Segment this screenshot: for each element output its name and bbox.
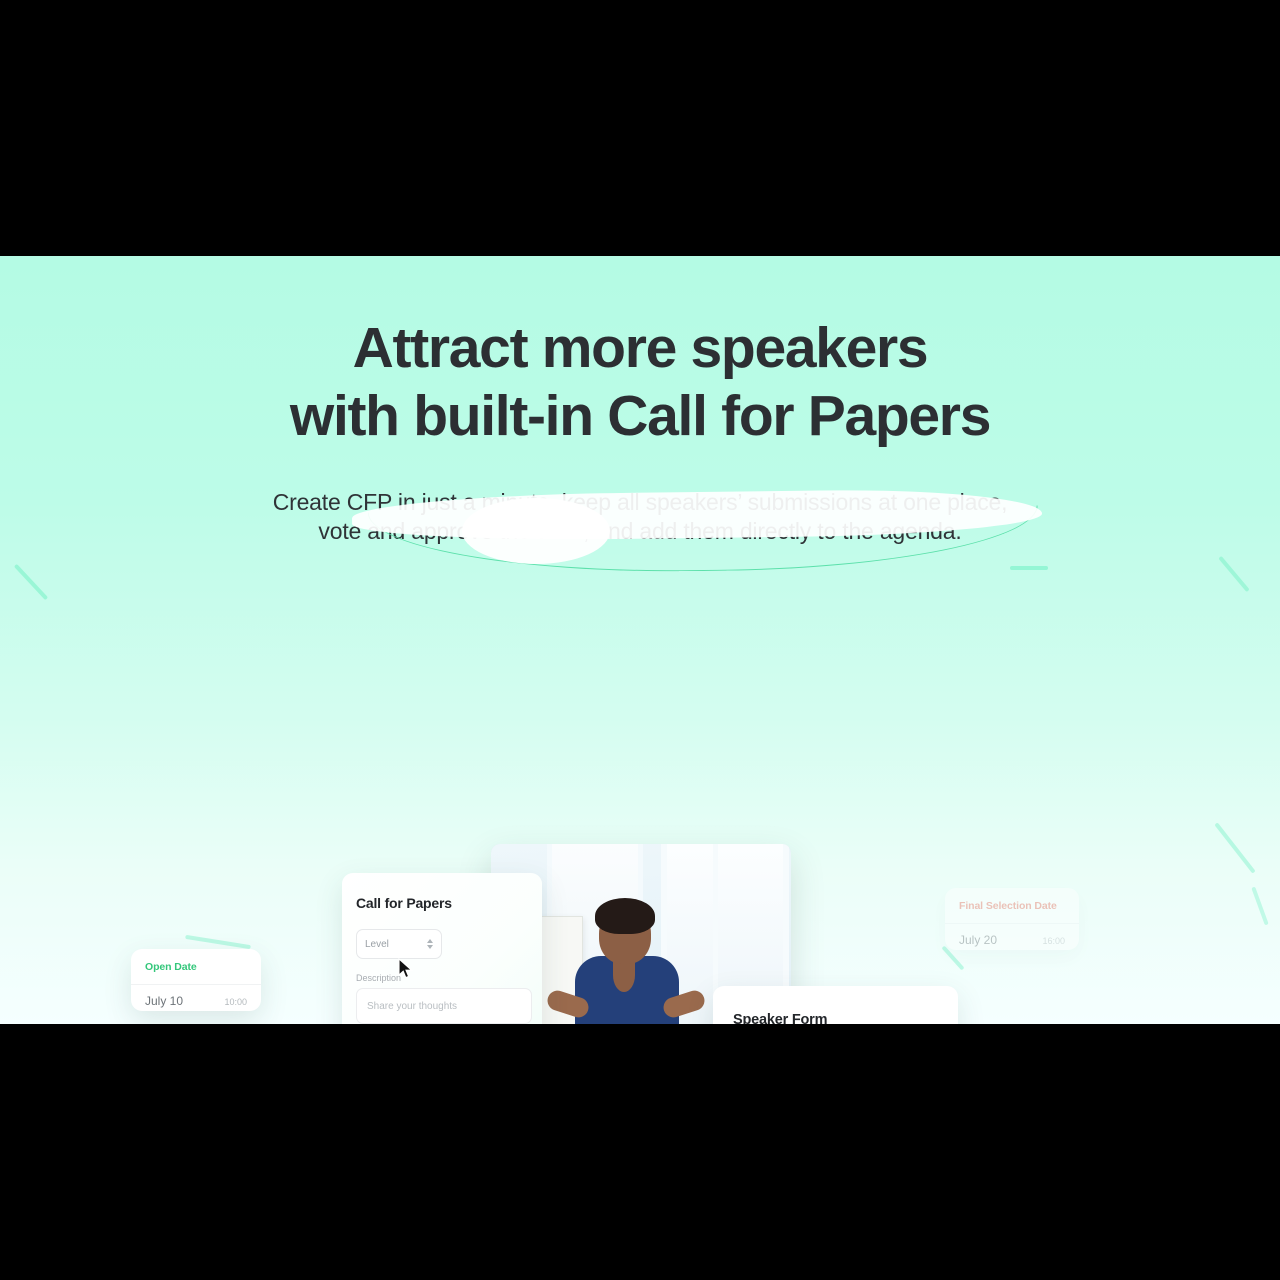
open-date-day: July 10 xyxy=(145,994,183,1008)
final-selection-date-time: 16:00 xyxy=(1042,936,1065,946)
stepper-icon xyxy=(427,939,433,949)
final-selection-date-day: July 20 xyxy=(959,933,997,947)
final-selection-date-card: Final Selection Date July 20 16:00 xyxy=(945,888,1079,950)
speaker-form-card: Speaker Form Speaker Biography I'm Willi… xyxy=(713,986,958,1024)
description-input[interactable]: Share your thoughts xyxy=(356,988,532,1024)
highlight-blob xyxy=(462,498,610,564)
final-selection-date-label: Final Selection Date xyxy=(945,888,1079,912)
description-label: Description xyxy=(356,973,542,983)
screenshot-stage: Attract more speakers with built-in Call… xyxy=(0,0,1280,1280)
open-date-card: Open Date July 10 10:00 xyxy=(131,949,261,1011)
call-for-papers-card: Call for Papers Level Description Share … xyxy=(342,873,542,1024)
cfp-card-title: Call for Papers xyxy=(356,895,542,911)
hero-illustration: Call for Papers Level Description Share … xyxy=(0,512,1280,1024)
speaker-form-title: Speaker Form xyxy=(733,1012,958,1024)
level-select-value: Level xyxy=(365,939,389,950)
description-placeholder: Share your thoughts xyxy=(367,1001,457,1012)
page-title: Attract more speakers with built-in Call… xyxy=(0,314,1280,451)
level-select[interactable]: Level xyxy=(356,929,442,959)
open-date-time: 10:00 xyxy=(224,997,247,1007)
open-date-label: Open Date xyxy=(131,949,261,973)
hero-section: Attract more speakers with built-in Call… xyxy=(0,256,1280,1024)
headline-block: Attract more speakers with built-in Call… xyxy=(0,314,1280,451)
